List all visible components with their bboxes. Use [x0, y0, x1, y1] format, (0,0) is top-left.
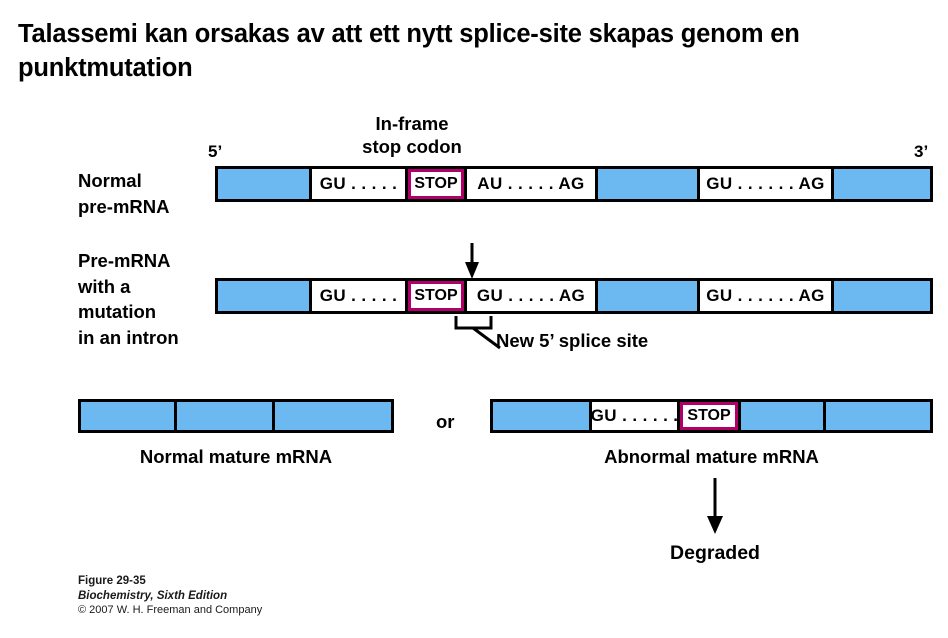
- figure-number: Figure 29-35: [78, 574, 262, 589]
- in-frame-stop-codon-callout: In-frame stop codon: [312, 113, 512, 158]
- segment-intron: GU . . . . . . AG: [700, 169, 834, 199]
- mutation-arrow-icon: [465, 243, 479, 279]
- segment-exon: [738, 402, 827, 430]
- segment-exon: [218, 281, 312, 311]
- row-label-mutated-pre-mrna: Pre-mRNA with a mutation in an intron: [78, 248, 179, 350]
- row-label-normal-pre-mrna: Normal pre-mRNA: [78, 168, 169, 219]
- segment-intron: GU . . . . . .: [592, 402, 681, 430]
- segment-exon: [834, 169, 930, 199]
- segment-exon: [598, 281, 700, 311]
- normal-pre-mrna-bar: GU . . . . . STOP AU . . . . . AG GU . .…: [215, 166, 933, 202]
- row-label-line: with a: [78, 274, 179, 300]
- segment-exon: [826, 402, 930, 430]
- or-separator-label: or: [436, 411, 455, 433]
- row-label-line: in an intron: [78, 325, 179, 351]
- normal-mature-mrna-caption: Normal mature mRNA: [78, 446, 394, 468]
- degraded-label: Degraded: [600, 542, 830, 565]
- normal-mature-mrna-bar: [78, 399, 394, 433]
- row-label-line: Normal: [78, 168, 169, 194]
- degradation-arrow-icon: [707, 478, 723, 534]
- segment-exon: [177, 402, 275, 430]
- segment-intron: GU . . . . . . AG: [700, 281, 834, 311]
- row-label-line: Pre-mRNA: [78, 248, 179, 274]
- page-title: Talassemi kan orsakas av att ett nytt sp…: [18, 18, 918, 85]
- segment-stop-codon: STOP: [408, 169, 464, 199]
- row-label-line: pre-mRNA: [78, 194, 169, 220]
- segment-stop-codon: STOP: [680, 402, 737, 430]
- figure-credit: Figure 29-35 Biochemistry, Sixth Edition…: [78, 574, 262, 618]
- segment-exon: [834, 281, 930, 311]
- segment-exon: [493, 402, 592, 430]
- new-splice-site-callout: New 5’ splice site: [496, 330, 726, 353]
- abnormal-mature-mrna-caption: Abnormal mature mRNA: [490, 446, 933, 468]
- mutated-pre-mrna-bar: GU . . . . . STOP GU . . . . . AG GU . .…: [215, 278, 933, 314]
- figure-book-title: Biochemistry, Sixth Edition: [78, 589, 262, 604]
- segment-exon: [598, 169, 700, 199]
- figure-copyright: © 2007 W. H. Freeman and Company: [78, 603, 262, 617]
- in-frame-stop-codon-line2: stop codon: [312, 136, 512, 159]
- abnormal-mature-mrna-bar: GU . . . . . . STOP: [490, 399, 933, 433]
- segment-intron: GU . . . . .: [312, 169, 408, 199]
- segment-exon: [275, 402, 391, 430]
- segment-intron: GU . . . . . AG: [464, 281, 598, 311]
- segment-intron: AU . . . . . AG: [464, 169, 598, 199]
- in-frame-stop-codon-line1: In-frame: [312, 113, 512, 136]
- five-prime-label: 5’: [208, 142, 222, 162]
- segment-exon: [218, 169, 312, 199]
- three-prime-label: 3’: [914, 142, 928, 162]
- segment-intron: GU . . . . .: [312, 281, 408, 311]
- segment-stop-codon: STOP: [408, 281, 464, 311]
- row-label-line: mutation: [78, 299, 179, 325]
- segment-exon: [81, 402, 177, 430]
- new-splice-site-bracket-icon: [456, 316, 500, 348]
